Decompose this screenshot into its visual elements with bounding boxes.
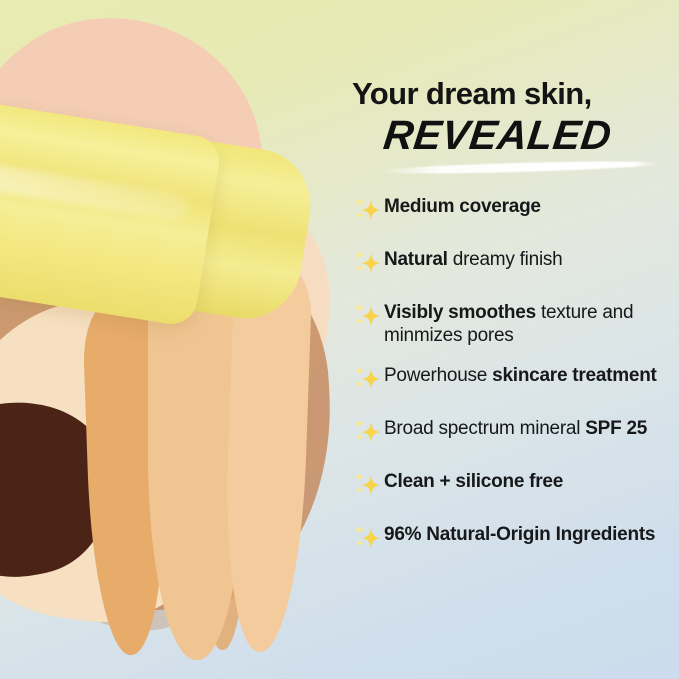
feature-text: Visibly smoothes texture and minmizes po…	[384, 301, 679, 347]
feature-emphasis: Clean + silicone free	[384, 471, 563, 492]
feature-item: 96% Natural-Origin Ingredients	[352, 523, 679, 559]
feature-emphasis: skincare treatment	[492, 365, 656, 386]
headline-line-2-wrapper: REVEALED	[350, 111, 679, 173]
headline-line-1: Your dream skin,	[350, 78, 679, 111]
feature-emphasis: Medium coverage	[384, 196, 541, 217]
sparkle-icon	[352, 523, 384, 559]
feature-item: Broad spectrum mineral SPF 25	[352, 417, 679, 453]
feature-text: 96% Natural-Origin Ingredients	[384, 523, 655, 546]
headline-line-2: REVEALED	[347, 111, 679, 159]
brush-underline-icon	[376, 159, 658, 176]
feature-item: Natural dreamy finish	[352, 248, 679, 284]
sparkle-icon	[352, 248, 384, 284]
sparkle-icon	[352, 417, 384, 453]
sparkle-icon	[352, 470, 384, 506]
feature-emphasis: 96% Natural-Origin Ingredients	[384, 524, 655, 545]
feature-list: Medium coverageNatural dreamy finishVisi…	[350, 195, 679, 559]
copy-column: Your dream skin, REVEALED Medium coverag…	[350, 0, 679, 679]
feature-emphasis: SPF 25	[585, 418, 647, 439]
feature-emphasis: Natural	[384, 249, 448, 270]
feature-text: Clean + silicone free	[384, 470, 563, 493]
feature-item: Clean + silicone free	[352, 470, 679, 506]
product-artwork	[0, 0, 345, 679]
feature-item: Powerhouse skincare treatment	[352, 364, 679, 400]
feature-text: Broad spectrum mineral SPF 25	[384, 417, 647, 440]
feature-detail: Broad spectrum mineral	[384, 418, 585, 439]
sparkle-icon	[352, 195, 384, 231]
feature-detail: dreamy finish	[448, 249, 563, 270]
foundation-drip-c	[221, 261, 313, 653]
feature-emphasis: Visibly smoothes	[384, 302, 536, 323]
feature-item: Visibly smoothes texture and minmizes po…	[352, 301, 679, 347]
feature-text: Natural dreamy finish	[384, 248, 563, 271]
feature-detail: Powerhouse	[384, 365, 492, 386]
sparkle-icon	[352, 364, 384, 400]
sparkle-icon	[352, 301, 384, 337]
feature-text: Medium coverage	[384, 195, 541, 218]
marketing-image: Your dream skin, REVEALED Medium coverag…	[0, 0, 679, 679]
feature-item: Medium coverage	[352, 195, 679, 231]
feature-text: Powerhouse skincare treatment	[384, 364, 657, 387]
